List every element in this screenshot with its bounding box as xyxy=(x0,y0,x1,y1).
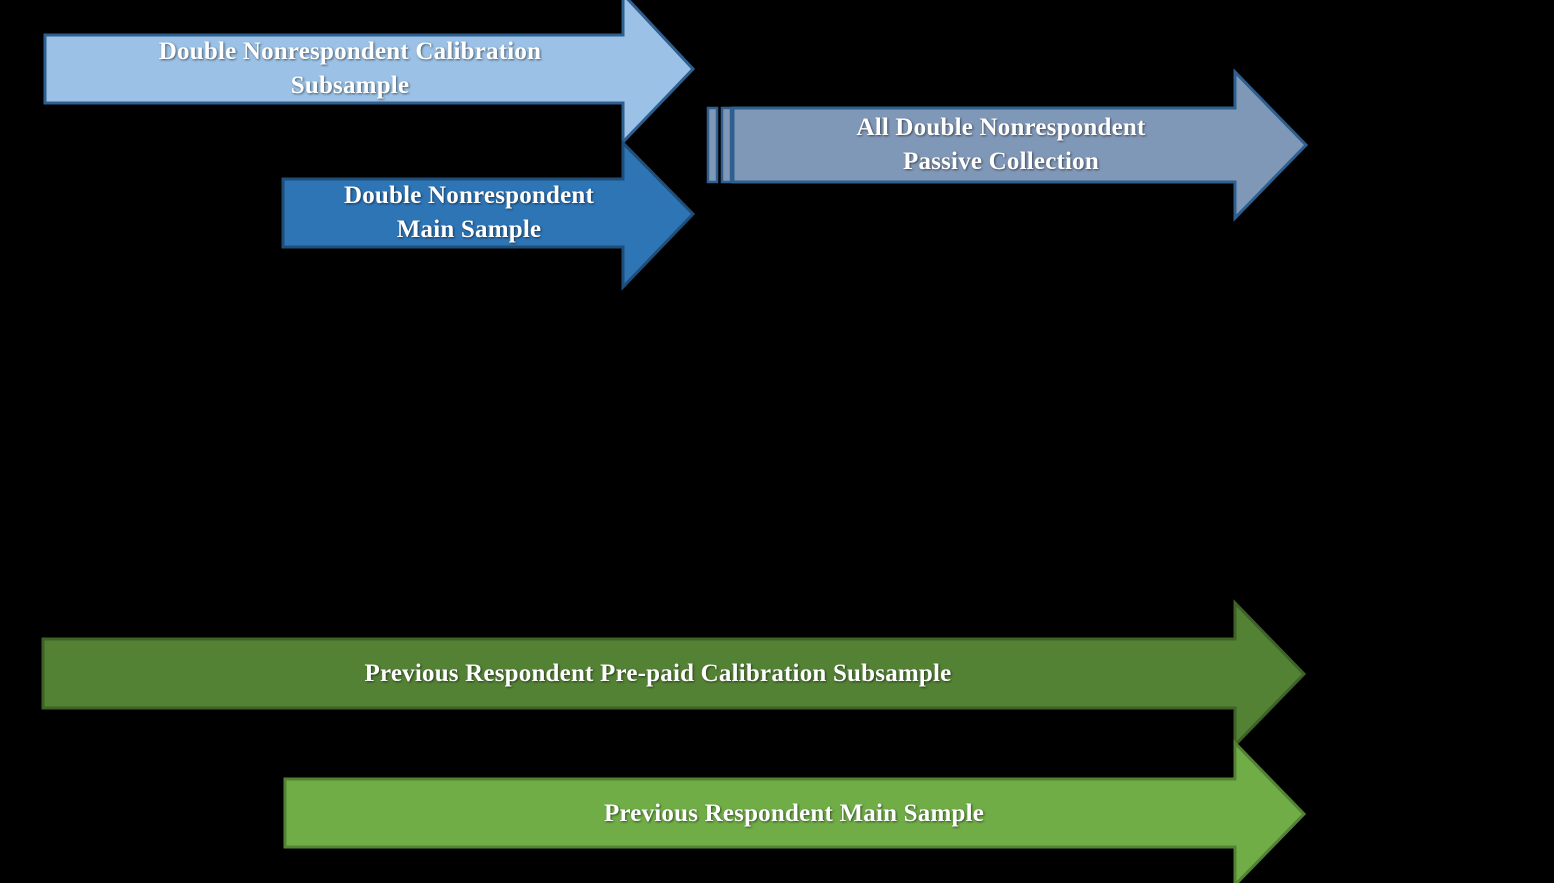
arrow-shape-double-nonrespondent-calibration-subsample[interactable] xyxy=(45,0,693,142)
arrow-shapes-layer xyxy=(0,0,1554,883)
arrow-stripe-1 xyxy=(708,108,717,182)
arrow-shape-previous-respondent-main-sample[interactable] xyxy=(285,743,1304,883)
arrow-stripe-2 xyxy=(722,108,731,182)
arrow-shape-double-nonrespondent-main-sample[interactable] xyxy=(283,143,693,287)
arrow-shape-all-double-nonrespondent-passive-collection[interactable] xyxy=(733,72,1306,218)
arrow-shape-previous-respondent-pre-paid-calibration-subsample[interactable] xyxy=(43,603,1304,745)
diagram-canvas: Double Nonrespondent Calibration Subsamp… xyxy=(0,0,1554,883)
